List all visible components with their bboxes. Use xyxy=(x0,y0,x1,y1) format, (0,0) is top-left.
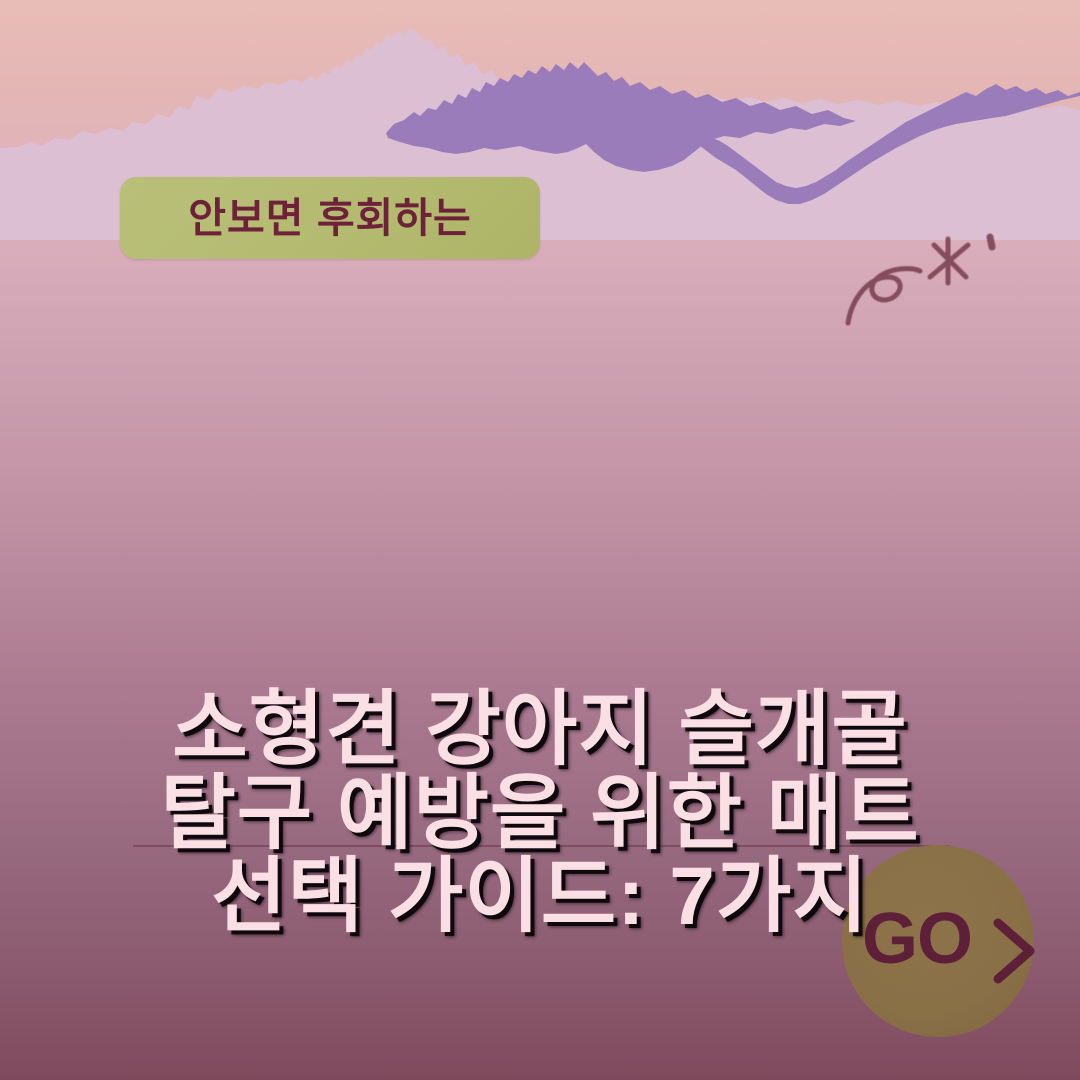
eyebrow-badge-label: 안보면 후회하는 xyxy=(188,198,471,239)
handdrawn-swirl-star-doodle xyxy=(830,225,1020,345)
title-underline-rule xyxy=(133,845,950,847)
doodle-dot-icon xyxy=(990,237,992,247)
mountain-near-ridge-center xyxy=(386,62,856,172)
go-cta-label: GO xyxy=(862,903,972,975)
title-line-2: 탈구 예방을 위한 매트 xyxy=(0,772,1080,856)
chevron-right-icon xyxy=(990,917,1038,985)
eyebrow-badge: 안보면 후회하는 xyxy=(120,177,540,259)
social-card: 안보면 후회하는 GO 소형견 강아지 슬개골 탈구 예방을 위한 매트 선택 … xyxy=(0,0,1080,1080)
doodle-star-icon-2 xyxy=(934,245,966,277)
doodle-star-icon xyxy=(930,245,968,277)
title-line-1: 소형견 강아지 슬개골 xyxy=(0,688,1080,772)
go-cta-button[interactable]: GO xyxy=(842,845,1034,1037)
mountain-near-ridge-right xyxy=(696,84,1080,204)
doodle-swirl-icon xyxy=(848,269,920,323)
